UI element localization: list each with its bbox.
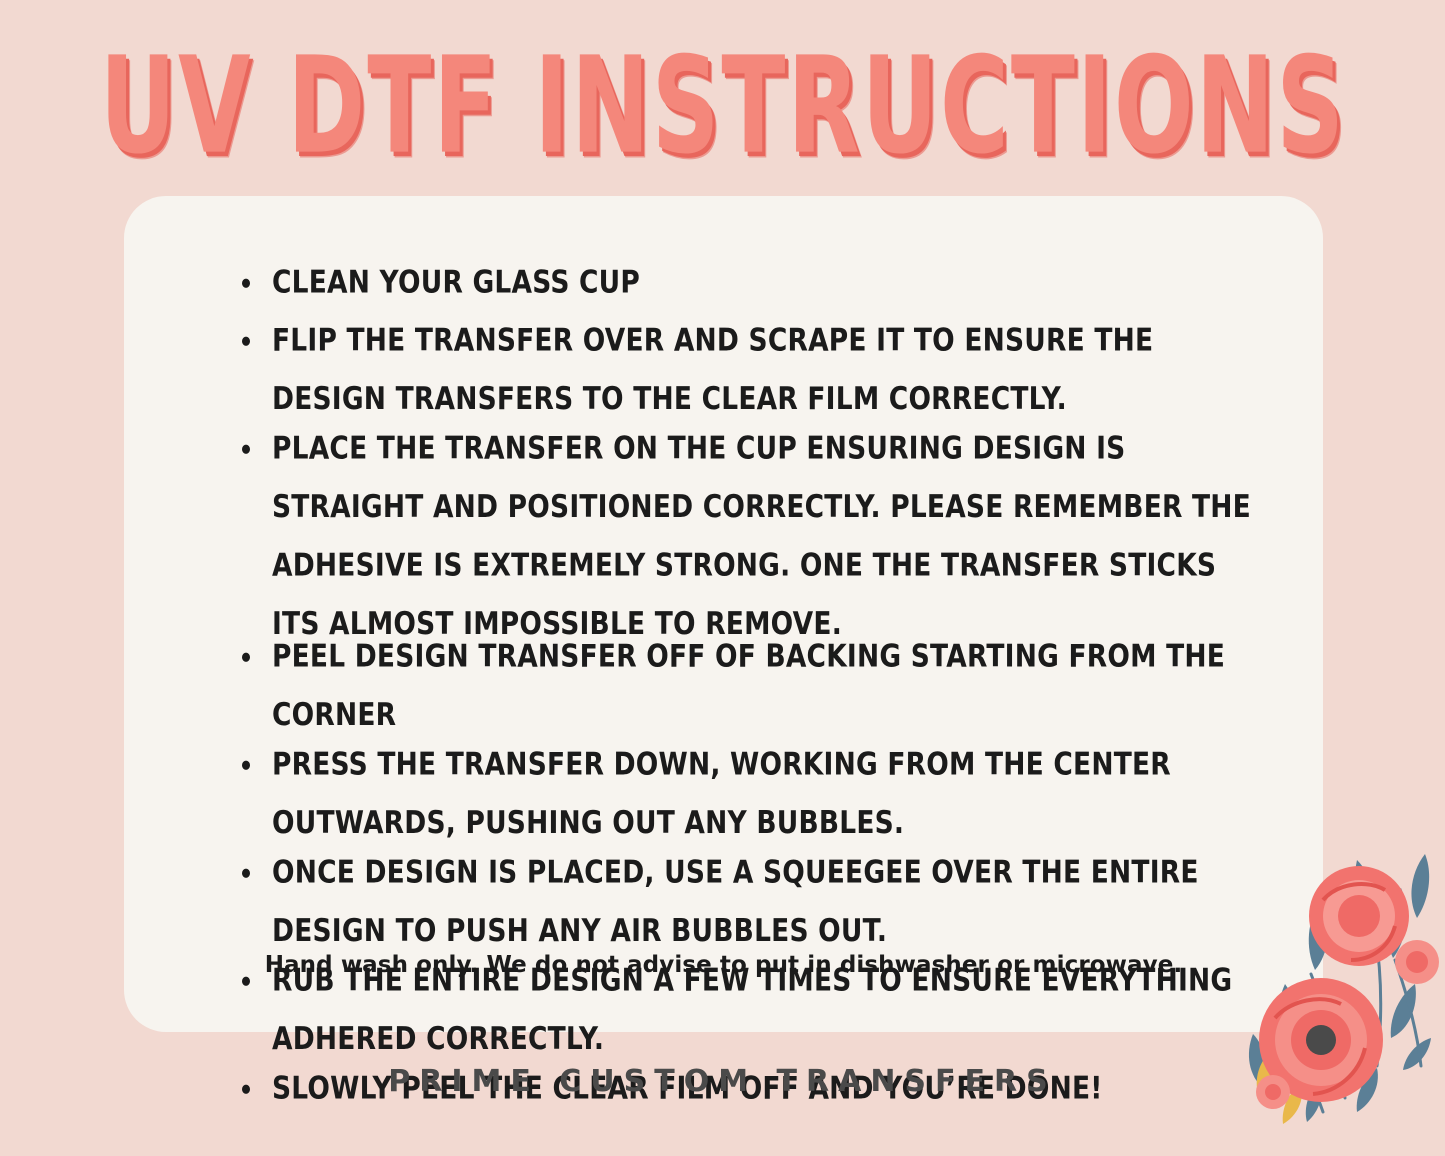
list-item: PRESS THE TRANSFER DOWN, WORKING FROM TH… — [236, 736, 1253, 853]
instructions-card: CLEAN YOUR GLASS CUP FLIP THE TRANSFER O… — [124, 196, 1323, 1032]
care-note: Hand wash only. We do not advise to put … — [124, 952, 1323, 978]
list-item: FLIP THE TRANSFER OVER AND SCRAPE IT TO … — [236, 312, 1253, 429]
brand-footer: PRIME CUSTOM TRANSFERS — [0, 1064, 1445, 1099]
list-item: CLEAN YOUR GLASS CUP — [236, 254, 1253, 313]
page-title-container: UV DTF INSTRUCTIONS — [0, 40, 1445, 160]
page-title: UV DTF INSTRUCTIONS — [99, 40, 1345, 173]
list-item: PEEL DESIGN TRANSFER OFF OF BACKING STAR… — [236, 628, 1253, 745]
list-item: ONCE DESIGN IS PLACED, USE A SQUEEGEE OV… — [236, 844, 1253, 961]
list-item: PLACE THE TRANSFER ON THE CUP ENSURING D… — [236, 420, 1253, 654]
instruction-page: UV DTF INSTRUCTIONS CLEAN YOUR GLASS CUP… — [0, 0, 1445, 1156]
